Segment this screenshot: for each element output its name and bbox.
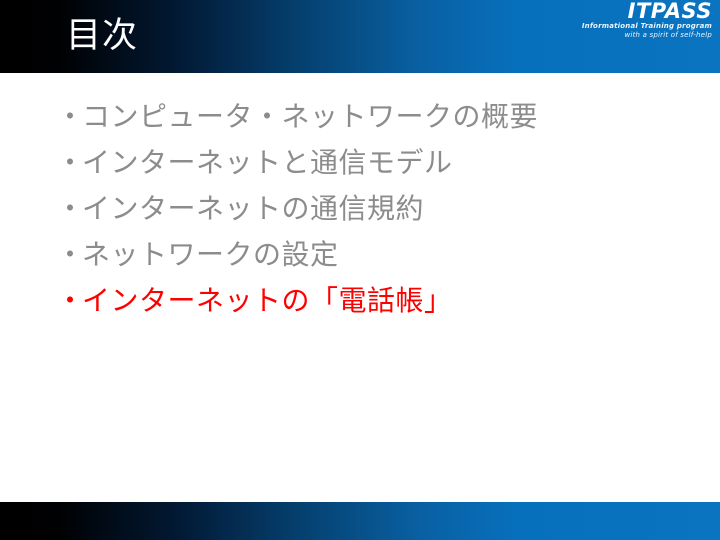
itpass-logo: ITPASS Informational Training program wi…: [582, 1, 712, 40]
list-item-label: ネットワークの設定: [82, 232, 339, 278]
list-item: ・ インターネットと通信モデル: [56, 140, 696, 186]
list-item-label: インターネットの通信規約: [82, 186, 424, 232]
table-of-contents-list: ・ コンピュータ・ネットワークの概要 ・ インターネットと通信モデル ・ インタ…: [56, 94, 696, 324]
bullet-dot-icon: ・: [56, 278, 82, 324]
slide-body: ・ コンピュータ・ネットワークの概要 ・ インターネットと通信モデル ・ インタ…: [0, 73, 720, 502]
presentation-slide: 目次 ・ コンピュータ・ネットワークの概要 ・ インターネットと通信モデル ・ …: [0, 0, 720, 540]
brand-name: ITPASS: [582, 1, 712, 22]
list-item: ・ ネットワークの設定: [56, 232, 696, 278]
list-item: ・ インターネットの通信規約: [56, 186, 696, 232]
bullet-dot-icon: ・: [56, 140, 82, 186]
slide-footer-bar: [0, 502, 720, 540]
brand-tagline-line1: Informational Training program: [582, 22, 712, 31]
list-item-label: インターネットの「電話帳」: [82, 278, 453, 324]
brand-tagline-line2: with a spirit of self-help: [582, 31, 712, 40]
list-item-label: インターネットと通信モデル: [82, 140, 453, 186]
list-item-label: コンピュータ・ネットワークの概要: [82, 94, 538, 140]
page-title: 目次: [66, 14, 138, 58]
list-item: ・ コンピュータ・ネットワークの概要: [56, 94, 696, 140]
list-item-current: ・ インターネットの「電話帳」: [56, 278, 696, 324]
bullet-dot-icon: ・: [56, 232, 82, 278]
bullet-dot-icon: ・: [56, 186, 82, 232]
bullet-dot-icon: ・: [56, 94, 82, 140]
